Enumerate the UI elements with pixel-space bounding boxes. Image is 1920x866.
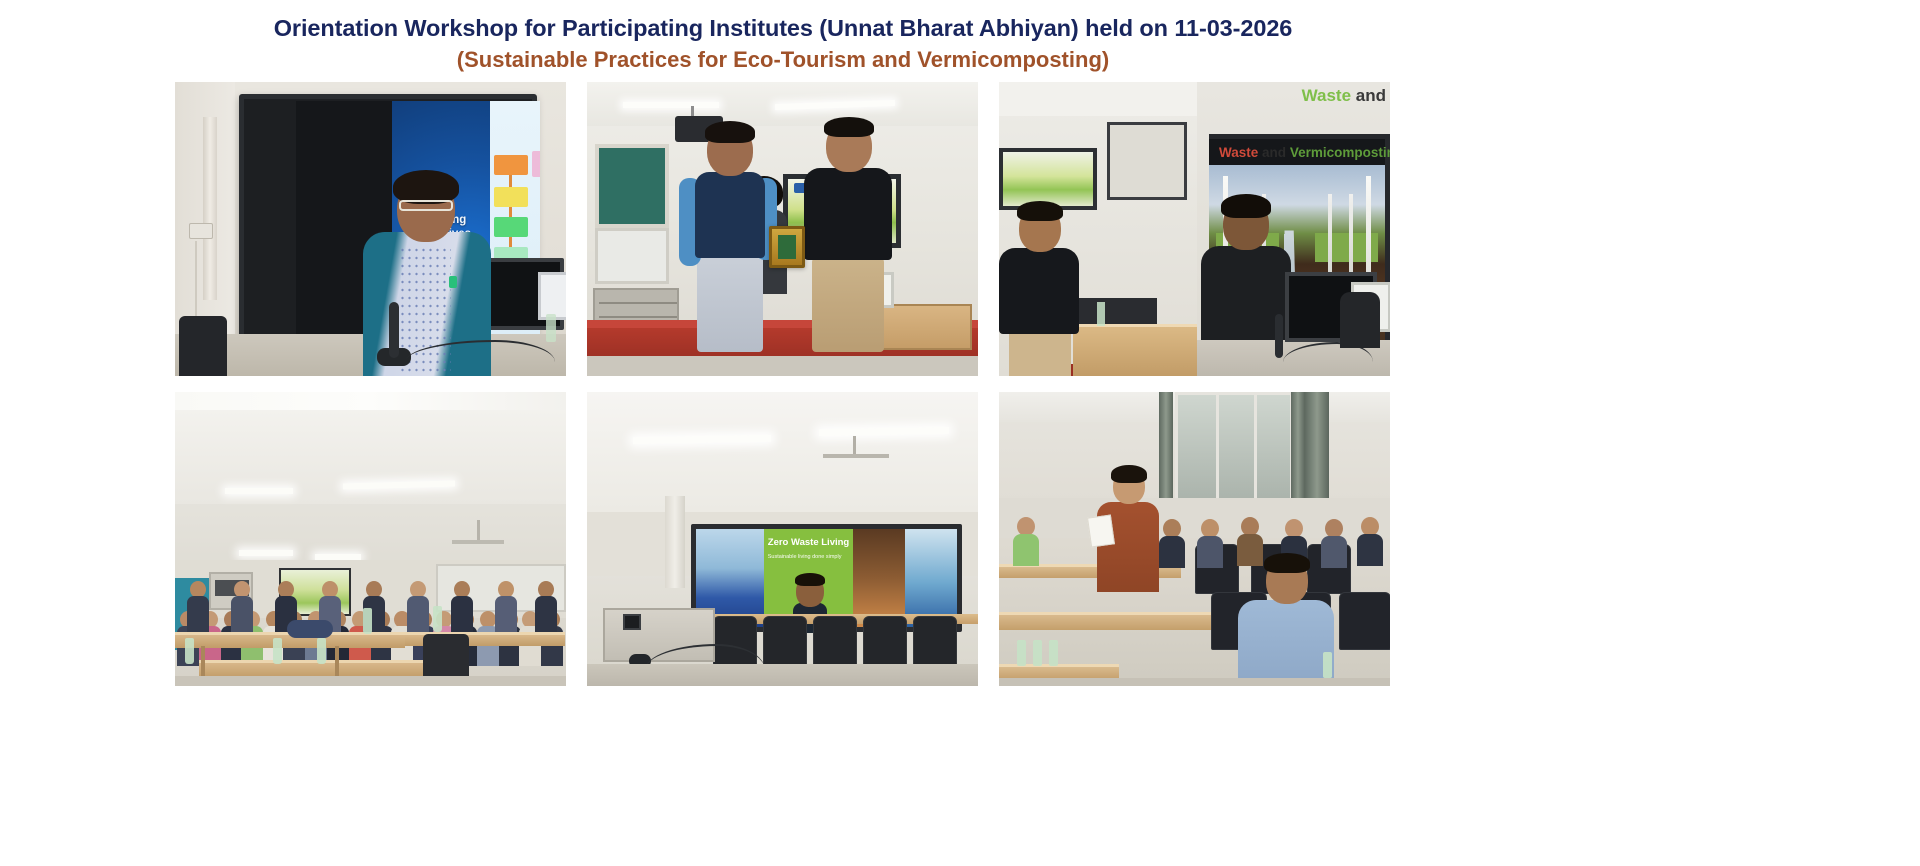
water-bottle <box>433 606 442 632</box>
flowchart-connector <box>509 175 512 187</box>
ceiling <box>999 82 1197 116</box>
attendee-figure <box>1340 292 1380 348</box>
water-bottle <box>1097 302 1105 326</box>
chair <box>863 616 907 668</box>
chair <box>179 316 227 376</box>
water-bottle <box>317 638 326 664</box>
flowchart-node-pink <box>532 151 540 177</box>
participant <box>1159 516 1185 568</box>
ceiling-fan <box>452 540 504 544</box>
chair <box>423 634 469 680</box>
floor <box>587 356 978 376</box>
lectern-monitor <box>623 614 641 630</box>
photo-gallery-grid: Learning Objectives <box>175 82 1391 686</box>
water-bottle <box>363 608 372 634</box>
desk-monitor-secondary <box>538 272 566 320</box>
backpack-on-table <box>287 620 333 638</box>
wall-pillar <box>665 496 685 588</box>
faculty-torso <box>1238 600 1334 678</box>
recipient-hair <box>824 117 874 137</box>
overlay-word-waste: Waste <box>1302 86 1351 105</box>
page-title: Orientation Workshop for Participating I… <box>0 0 1566 75</box>
projection-screen <box>1107 122 1187 200</box>
water-bottle <box>273 638 282 664</box>
speaker-jacket <box>999 248 1079 334</box>
ceiling-light <box>239 550 293 556</box>
water-bottle <box>1017 640 1026 666</box>
flowchart-node-orange <box>494 155 528 175</box>
floor <box>587 664 978 686</box>
page-title-line-2: (Sustainable Practices for Eco-Tourism a… <box>0 46 1566 75</box>
memento-plaque <box>769 226 805 268</box>
slide-word-vermicomposting: Vermicomposting <box>1290 145 1390 160</box>
speaker-trousers <box>1009 330 1071 376</box>
flowchart-node-green <box>494 217 528 237</box>
gallery-photo-4 <box>175 392 566 686</box>
water-bottle <box>185 638 194 664</box>
presenter-vest <box>695 172 765 258</box>
recipient-jacket <box>804 168 892 260</box>
slide-subtitle-text: Sustainable living done simply <box>768 554 849 561</box>
slide-title-text: Zero Waste Living <box>768 537 849 548</box>
curtain <box>1291 392 1305 510</box>
speaker-spectacles <box>399 200 453 211</box>
speaker-id-badge <box>449 276 457 288</box>
overlay-slide-title: Waste and <box>1302 86 1386 106</box>
overlay-word-and: and <box>1356 86 1386 105</box>
floor <box>175 676 566 686</box>
microphone <box>389 302 399 358</box>
flowchart-connector <box>509 237 512 247</box>
curtain <box>1305 392 1329 510</box>
participant <box>1197 516 1223 568</box>
presenter-hair <box>1221 194 1271 218</box>
speaker-hair <box>1017 201 1063 221</box>
participant <box>1357 514 1383 566</box>
ceiling-fan <box>823 454 889 458</box>
slide-title-waste-and-vermicomposting: Waste and Vermicomposting <box>1219 141 1390 165</box>
faculty-member-seated <box>1238 556 1334 676</box>
ceiling <box>587 392 978 512</box>
recipient-trousers <box>812 258 884 352</box>
flowchart-connector <box>509 207 512 217</box>
white-board <box>595 228 669 284</box>
speaker-hair <box>393 170 459 204</box>
ceiling-fan-rod <box>853 436 856 456</box>
ceiling-light <box>225 488 293 494</box>
chair <box>763 616 807 668</box>
gallery-photo-5: Zero Waste Living Sustainable living don… <box>587 392 978 686</box>
gallery-photo-3: Waste and Vermicomposting Waste and <box>999 82 1390 376</box>
page-title-line-1: Orientation Workshop for Participating I… <box>0 13 1566 43</box>
wall-socket <box>189 223 213 239</box>
recipient-figure <box>796 120 900 352</box>
chair <box>913 616 957 668</box>
water-bottle <box>1033 640 1042 666</box>
flowchart-node-yellow <box>494 187 528 207</box>
presenter-trousers <box>697 256 763 352</box>
speaker-figure <box>999 204 1081 376</box>
ceiling-highlight <box>175 392 566 410</box>
chair <box>1339 592 1390 650</box>
window <box>1175 392 1293 504</box>
green-board <box>595 144 669 228</box>
curtain <box>1159 392 1173 510</box>
wooden-table <box>1073 324 1197 376</box>
slide-title-zero-waste-living: Zero Waste Living Sustainable living don… <box>768 537 849 561</box>
water-bottle <box>1049 640 1058 666</box>
report-page: Orientation Workshop for Participating I… <box>0 0 1920 866</box>
student-asking-question <box>1097 468 1159 590</box>
slide-word-waste: Waste <box>1219 145 1258 160</box>
floor <box>999 678 1390 686</box>
microphone <box>1275 314 1283 358</box>
gallery-photo-2 <box>587 82 978 376</box>
water-bottle <box>546 314 556 342</box>
gallery-photo-6 <box>999 392 1390 686</box>
presenter-hair <box>705 121 755 143</box>
slide-word-and: and <box>1262 145 1286 160</box>
chair <box>813 616 857 668</box>
participant <box>1013 514 1039 566</box>
faculty-hair <box>1264 553 1310 573</box>
gallery-photo-1: Learning Objectives <box>175 82 566 376</box>
wooden-table <box>999 612 1227 630</box>
paper-sheet <box>1087 514 1115 547</box>
ceiling-fan-rod <box>477 520 480 542</box>
water-bottle <box>1323 652 1332 678</box>
screen-content <box>1003 152 1093 206</box>
speaker-hair <box>795 573 825 586</box>
presenter-figure <box>679 124 777 352</box>
ceiling-light <box>623 102 719 108</box>
student-hair <box>1111 465 1147 483</box>
